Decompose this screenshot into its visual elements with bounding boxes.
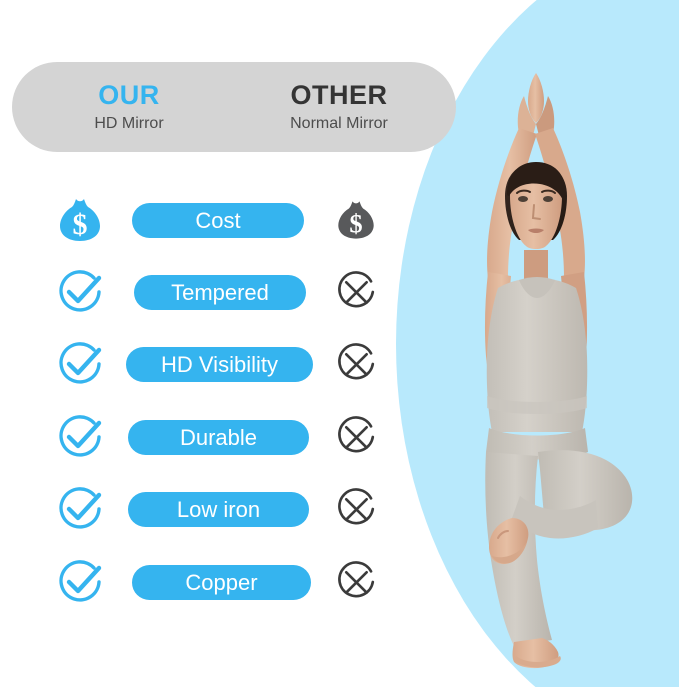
header-column-other: OTHER Normal Mirror	[244, 80, 434, 135]
header-column-our: OUR HD Mirror	[34, 80, 224, 135]
comparison-row: $ Cost $	[0, 194, 400, 246]
x-circle-icon	[333, 414, 379, 460]
comparison-infographic: OUR HD Mirror OTHER Normal Mirror $ Cost…	[0, 0, 679, 687]
x-circle-icon	[333, 269, 379, 315]
feature-pill[interactable]: Durable	[128, 420, 309, 455]
comparison-header-bar: OUR HD Mirror OTHER Normal Mirror	[12, 62, 456, 152]
comparison-row: Durable	[0, 411, 400, 463]
check-circle-icon	[54, 483, 106, 535]
header-other-title: OTHER	[244, 80, 434, 110]
header-other-subtitle: Normal Mirror	[244, 113, 434, 135]
header-our-subtitle: HD Mirror	[34, 113, 224, 135]
check-circle-icon	[54, 411, 106, 463]
x-circle-icon	[333, 559, 379, 605]
feature-pill[interactable]: Low iron	[128, 492, 309, 527]
svg-text:$: $	[73, 208, 88, 241]
feature-pill[interactable]: Cost	[132, 203, 304, 238]
x-circle-icon	[333, 486, 379, 532]
money-bag-icon: $	[333, 197, 379, 243]
feature-pill[interactable]: Copper	[132, 565, 311, 600]
comparison-row: Low iron	[0, 483, 400, 535]
comparison-row: HD Visibility	[0, 338, 400, 390]
feature-pill[interactable]: HD Visibility	[126, 347, 313, 382]
svg-text:$: $	[349, 208, 362, 238]
x-circle-icon	[333, 341, 379, 387]
feature-pill[interactable]: Tempered	[134, 275, 306, 310]
comparison-row: Tempered	[0, 266, 400, 318]
check-circle-icon	[54, 338, 106, 390]
money-bag-icon: $	[54, 194, 106, 246]
check-circle-icon	[54, 556, 106, 608]
header-our-title: OUR	[34, 80, 224, 110]
check-circle-icon	[54, 266, 106, 318]
comparison-row: Copper	[0, 556, 400, 608]
